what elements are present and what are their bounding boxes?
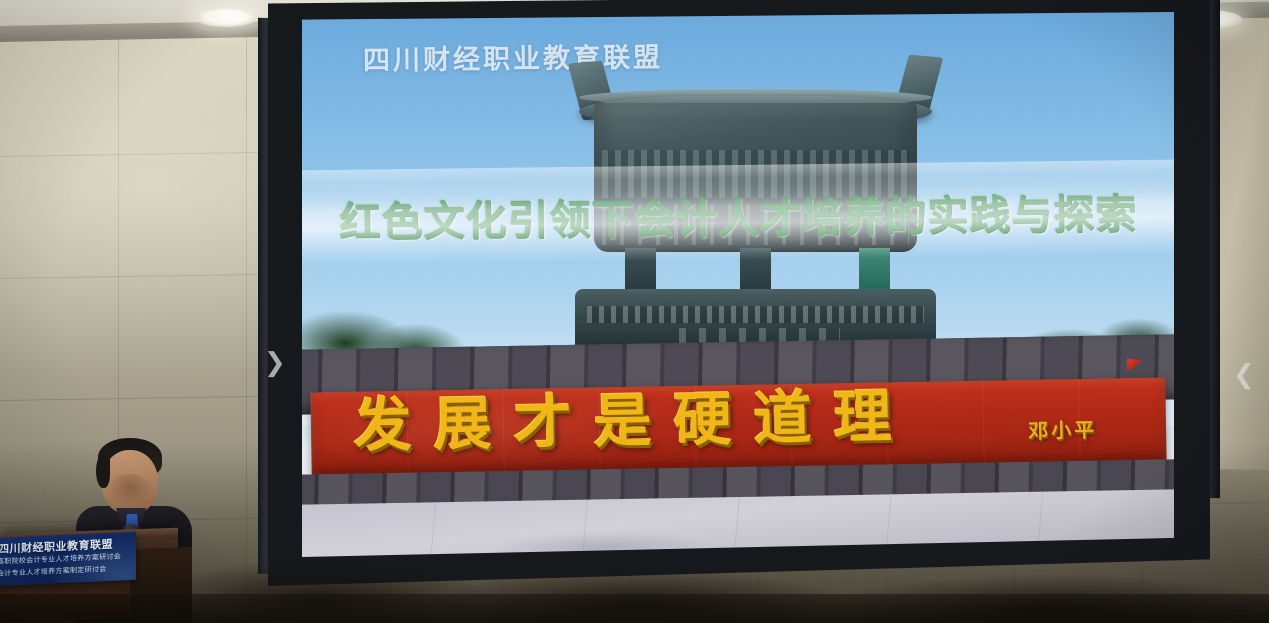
left-chevron-icon: ❯ — [264, 350, 286, 376]
speaker-hair-side-left — [96, 454, 110, 488]
podium-banner: 四川财经职业教育联盟 高职院校会计专业人才培养方案研讨会 会计专业人才培养方案制… — [0, 532, 136, 586]
projection-screen: 四川财经职业教育联盟 红色文化引领下会计人才培养的实践与探索 — [302, 12, 1174, 557]
ceiling-light-icon — [195, 8, 257, 27]
banner-signature-text: 邓小平 — [1028, 415, 1097, 445]
screenshot-root: 四川财经职业教育联盟 红色文化引领下会计人才培养的实践与探索 — [0, 0, 1269, 623]
floor-shadow — [0, 594, 1269, 623]
right-chevron-icon: ❮ — [1233, 362, 1255, 388]
speaker-face-shadow — [108, 474, 152, 504]
banner-calligraphy-text: 发展才是硬道理 — [353, 387, 914, 455]
